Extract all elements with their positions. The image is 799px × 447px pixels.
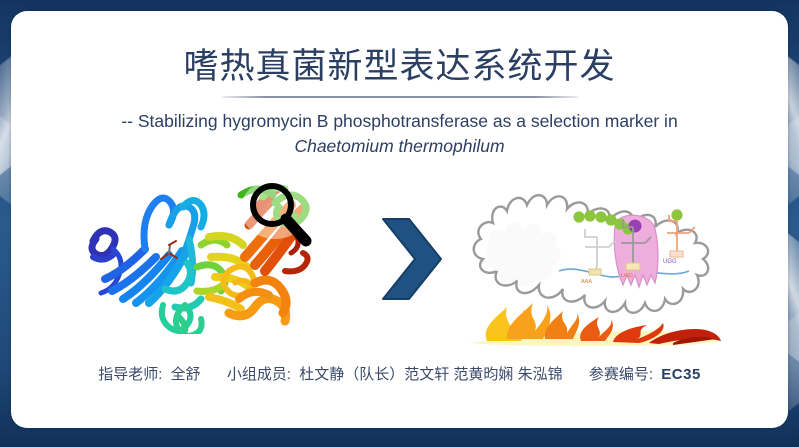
- chevron-arrow: [379, 215, 445, 303]
- figures-row: AAA UAG UGG: [11, 171, 788, 346]
- cell-translation-figure: AAA UAG UGG: [463, 171, 731, 346]
- protein-ribbon-svg: [79, 179, 319, 334]
- terminal-residue-bead: [629, 220, 642, 233]
- members-label: 小组成员:: [227, 366, 291, 383]
- credits-line: 指导老师: 全舒 小组成员: 杜文静（队长）范文轩 范黄昀娴 朱泓锦 参赛编号:…: [11, 363, 788, 384]
- slide-content-panel: 嗜热真菌新型表达系统开发 -- Stabilizing hygromycin B…: [11, 11, 788, 428]
- presentation-slide: 嗜热真菌新型表达系统开发 -- Stabilizing hygromycin B…: [0, 0, 799, 447]
- advisor-name: 全舒: [171, 366, 201, 383]
- codon-label-uag: UAG: [621, 273, 633, 279]
- protein-ribbon-figure: [79, 179, 319, 334]
- subtitle-line-2-species: Chaetomium thermophilum: [11, 134, 788, 159]
- members-names: 杜文静（队长）范文轩 范黄昀娴 朱泓锦: [299, 366, 562, 383]
- cell-translation-svg: AAA UAG UGG: [463, 171, 731, 346]
- subtitle-line-1: -- Stabilizing hygromycin B phosphotrans…: [11, 109, 788, 134]
- entry-number-value: EC35: [661, 366, 701, 383]
- chevron-arrow-icon: [379, 215, 445, 303]
- free-residue-bead: [671, 209, 682, 220]
- entry-number-label: 参赛编号:: [589, 366, 653, 383]
- title-divider-rule: [222, 96, 578, 98]
- codon-label-aaa: AAA: [581, 279, 592, 285]
- codon-label-ugg: UGG: [663, 259, 677, 265]
- slide-subtitle: -- Stabilizing hygromycin B phosphotrans…: [11, 109, 788, 159]
- page-title: 嗜热真菌新型表达系统开发: [11, 45, 788, 89]
- advisor-label: 指导老师:: [98, 366, 162, 383]
